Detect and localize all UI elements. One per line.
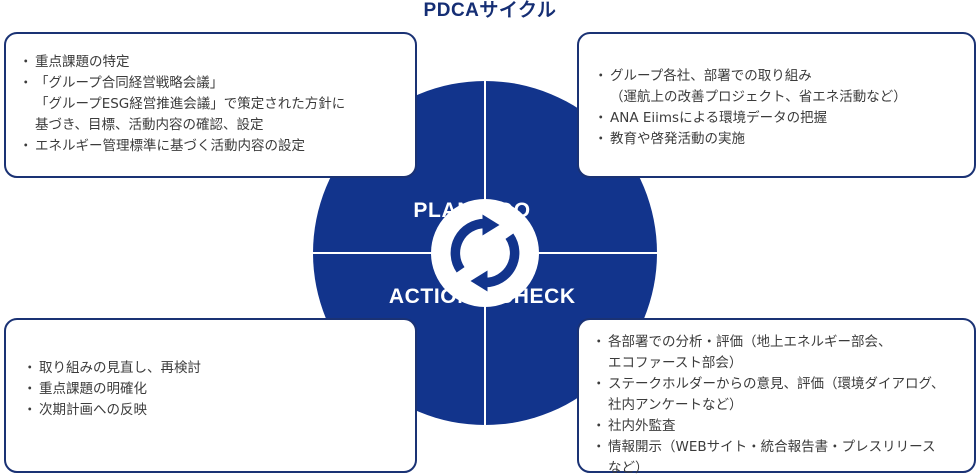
list-item: 次期計画への反映 bbox=[24, 400, 415, 421]
list-item: 「グループ合同経営戦略会議」 「グループESG経営推進会議」で策定された方針に … bbox=[20, 73, 415, 136]
list-item: 社内外監査 bbox=[593, 416, 974, 437]
list-item: 情報開示（WEBサイト・統合報告書・プレスリリース など） bbox=[593, 437, 974, 475]
callout-check: 各部署での分析・評価（地上エネルギー部会、 エコファースト部会） ステークホルダ… bbox=[577, 318, 976, 473]
callout-action-list: 取り組みの見直し、再検討 重点課題の明確化 次期計画への反映 bbox=[6, 320, 415, 421]
list-item: グループ各社、部署での取り組み （運航上の改善プロジェクト、省エネ活動など） bbox=[595, 66, 974, 108]
list-item: 教育や啓発活動の実施 bbox=[595, 129, 974, 150]
list-item: ステークホルダーからの意見、評価（環境ダイアログ、 社内アンケートなど） bbox=[593, 374, 974, 416]
callout-do: グループ各社、部署での取り組み （運航上の改善プロジェクト、省エネ活動など） A… bbox=[577, 32, 976, 178]
list-item: ANA Eiimsによる環境データの把握 bbox=[595, 108, 974, 129]
list-item: エネルギー管理標準に基づく活動内容の設定 bbox=[20, 136, 415, 157]
page-title: PDCAサイクル bbox=[0, 0, 980, 23]
list-item: 重点課題の特定 bbox=[20, 52, 415, 73]
pdca-diagram: PDCAサイクル PLAN DO ACTION CHECK 重点課題の特定 「グ… bbox=[0, 0, 980, 475]
callout-check-list: 各部署での分析・評価（地上エネルギー部会、 エコファースト部会） ステークホルダ… bbox=[579, 320, 974, 475]
callout-plan-list: 重点課題の特定 「グループ合同経営戦略会議」 「グループESG経営推進会議」で策… bbox=[6, 34, 415, 157]
callout-plan: 重点課題の特定 「グループ合同経営戦略会議」 「グループESG経営推進会議」で策… bbox=[4, 32, 417, 178]
list-item: 重点課題の明確化 bbox=[24, 379, 415, 400]
list-item: 取り組みの見直し、再検討 bbox=[24, 358, 415, 379]
list-item: 各部署での分析・評価（地上エネルギー部会、 エコファースト部会） bbox=[593, 332, 974, 374]
callout-do-list: グループ各社、部署での取り組み （運航上の改善プロジェクト、省エネ活動など） A… bbox=[579, 34, 974, 150]
callout-action: 取り組みの見直し、再検討 重点課題の明確化 次期計画への反映 bbox=[4, 318, 417, 473]
refresh-cycle-icon bbox=[446, 214, 524, 292]
wheel-hub bbox=[431, 199, 539, 307]
